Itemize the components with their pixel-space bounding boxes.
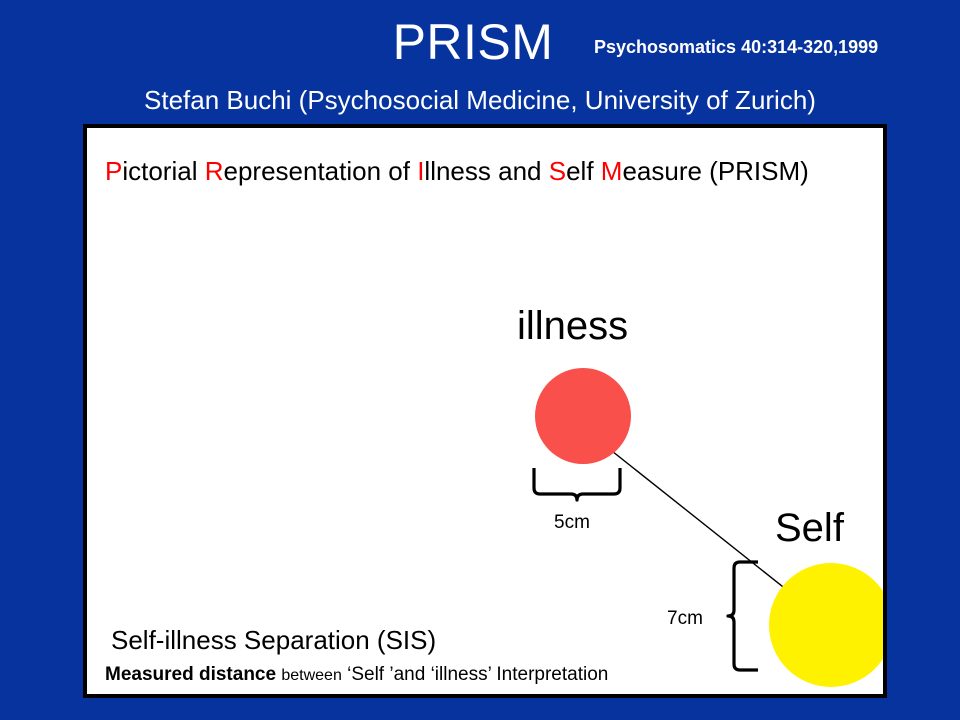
illness-circle[interactable] — [535, 368, 631, 464]
sis-heading: Self-illness Separation (SIS) — [111, 624, 436, 656]
journal-citation: Psychosomatics 40:314-320,1999 — [594, 36, 878, 58]
sis-subtext-part-2: ‘Self ’and ‘illness’ Interpretation — [342, 664, 609, 685]
illness-diameter-brace — [534, 468, 620, 500]
author-affiliation: Stefan Buchi (Psychosocial Medicine, Uni… — [0, 84, 960, 116]
illness-diameter-label: 5cm — [554, 513, 590, 532]
sis-subtext-part-1: between — [281, 667, 342, 684]
self-distance-brace — [728, 562, 758, 670]
sis-subtext: Measured distance between ‘Self ’and ‘il… — [105, 662, 608, 689]
self-circle[interactable] — [769, 563, 883, 687]
prism-diagram: illness Self 5cm 7cm — [87, 128, 883, 694]
diagram-canvas — [87, 128, 883, 694]
sis-subtext-part-0: Measured distance — [105, 664, 281, 685]
illness-label: illness — [517, 306, 628, 346]
content-panel: Pictorial Representation of Illness and … — [83, 124, 887, 698]
slide-title: PRISM — [383, 14, 563, 70]
slide-header: PRISM Psychosomatics 40:314-320,1999 Ste… — [0, 0, 960, 125]
self-label: Self — [775, 508, 844, 548]
self-distance-label: 7cm — [667, 609, 703, 628]
